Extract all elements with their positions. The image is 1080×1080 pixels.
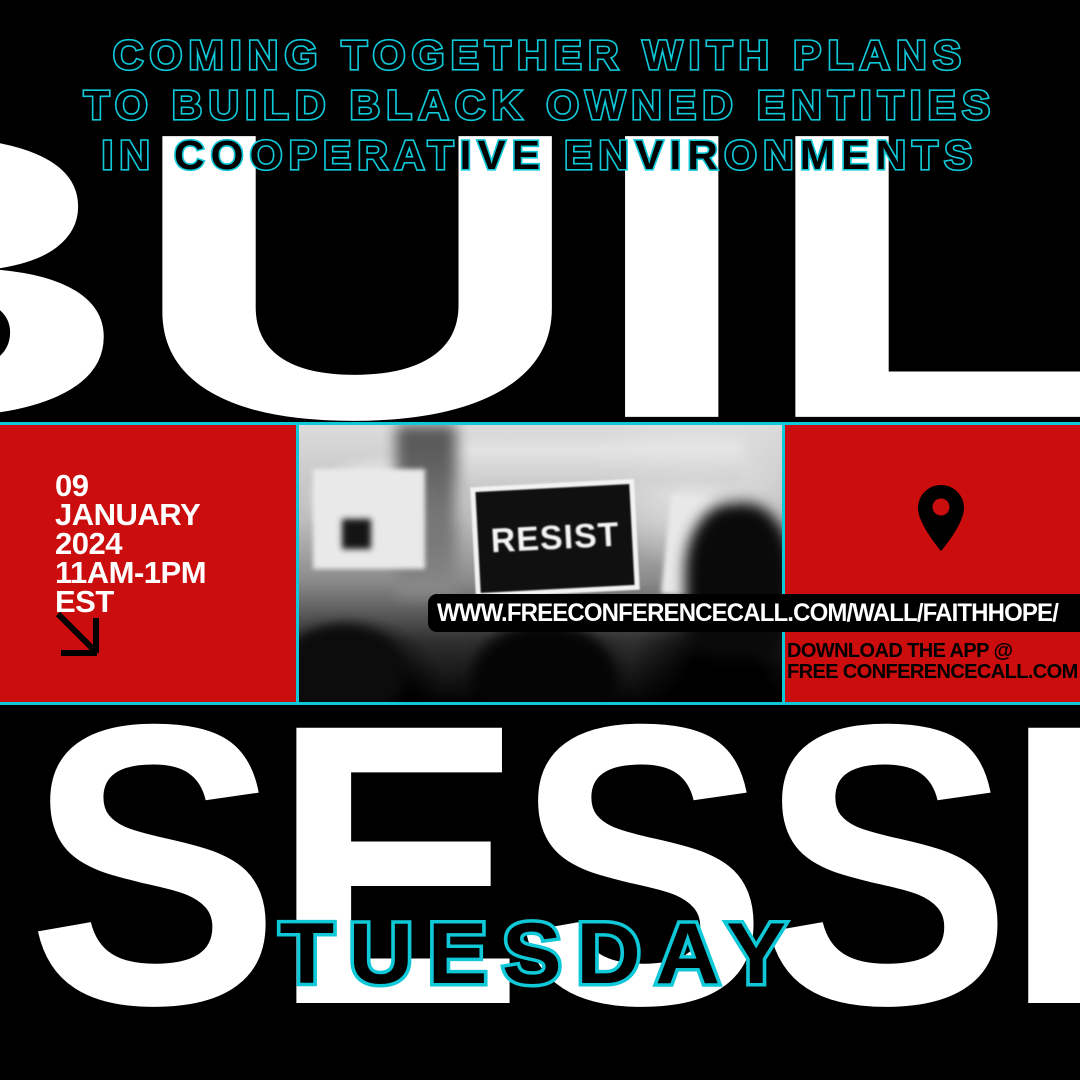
resist-sign-text: RESIST <box>490 516 621 562</box>
day-label-tuesday: TUESDAY <box>0 908 1080 1000</box>
event-month: JANUARY <box>55 500 206 529</box>
event-year: 2024 <box>55 529 206 558</box>
event-url-bar[interactable]: WWW.FREECONFERENCECALL.COM/WALL/FAITHHOP… <box>428 594 1080 632</box>
resist-sign: RESIST <box>470 479 640 598</box>
title-build: BUILD <box>0 118 1080 434</box>
photo-crowd-figure-3 <box>685 503 785 658</box>
event-date-block: 09 JANUARY 2024 11AM-1PM EST <box>55 471 206 616</box>
event-poster: BUILD COMING TOGETHER WITH PLANS TO BUIL… <box>0 0 1080 1080</box>
photo-placard-left <box>313 469 424 569</box>
event-day-number: 09 <box>55 471 206 500</box>
download-line-2: FREE CONFERENCECALL.COM <box>787 662 1078 683</box>
location-pin-icon <box>913 483 969 553</box>
photo-backdrop-bar <box>463 442 743 486</box>
event-url-text: WWW.FREECONFERENCECALL.COM/WALL/FAITHHOP… <box>437 599 1058 628</box>
event-time: 11AM-1PM <box>55 558 206 587</box>
download-app-note: DOWNLOAD THE APP @ FREE CONFERENCECALL.C… <box>787 641 1078 683</box>
download-line-1: DOWNLOAD THE APP @ <box>787 641 1078 662</box>
